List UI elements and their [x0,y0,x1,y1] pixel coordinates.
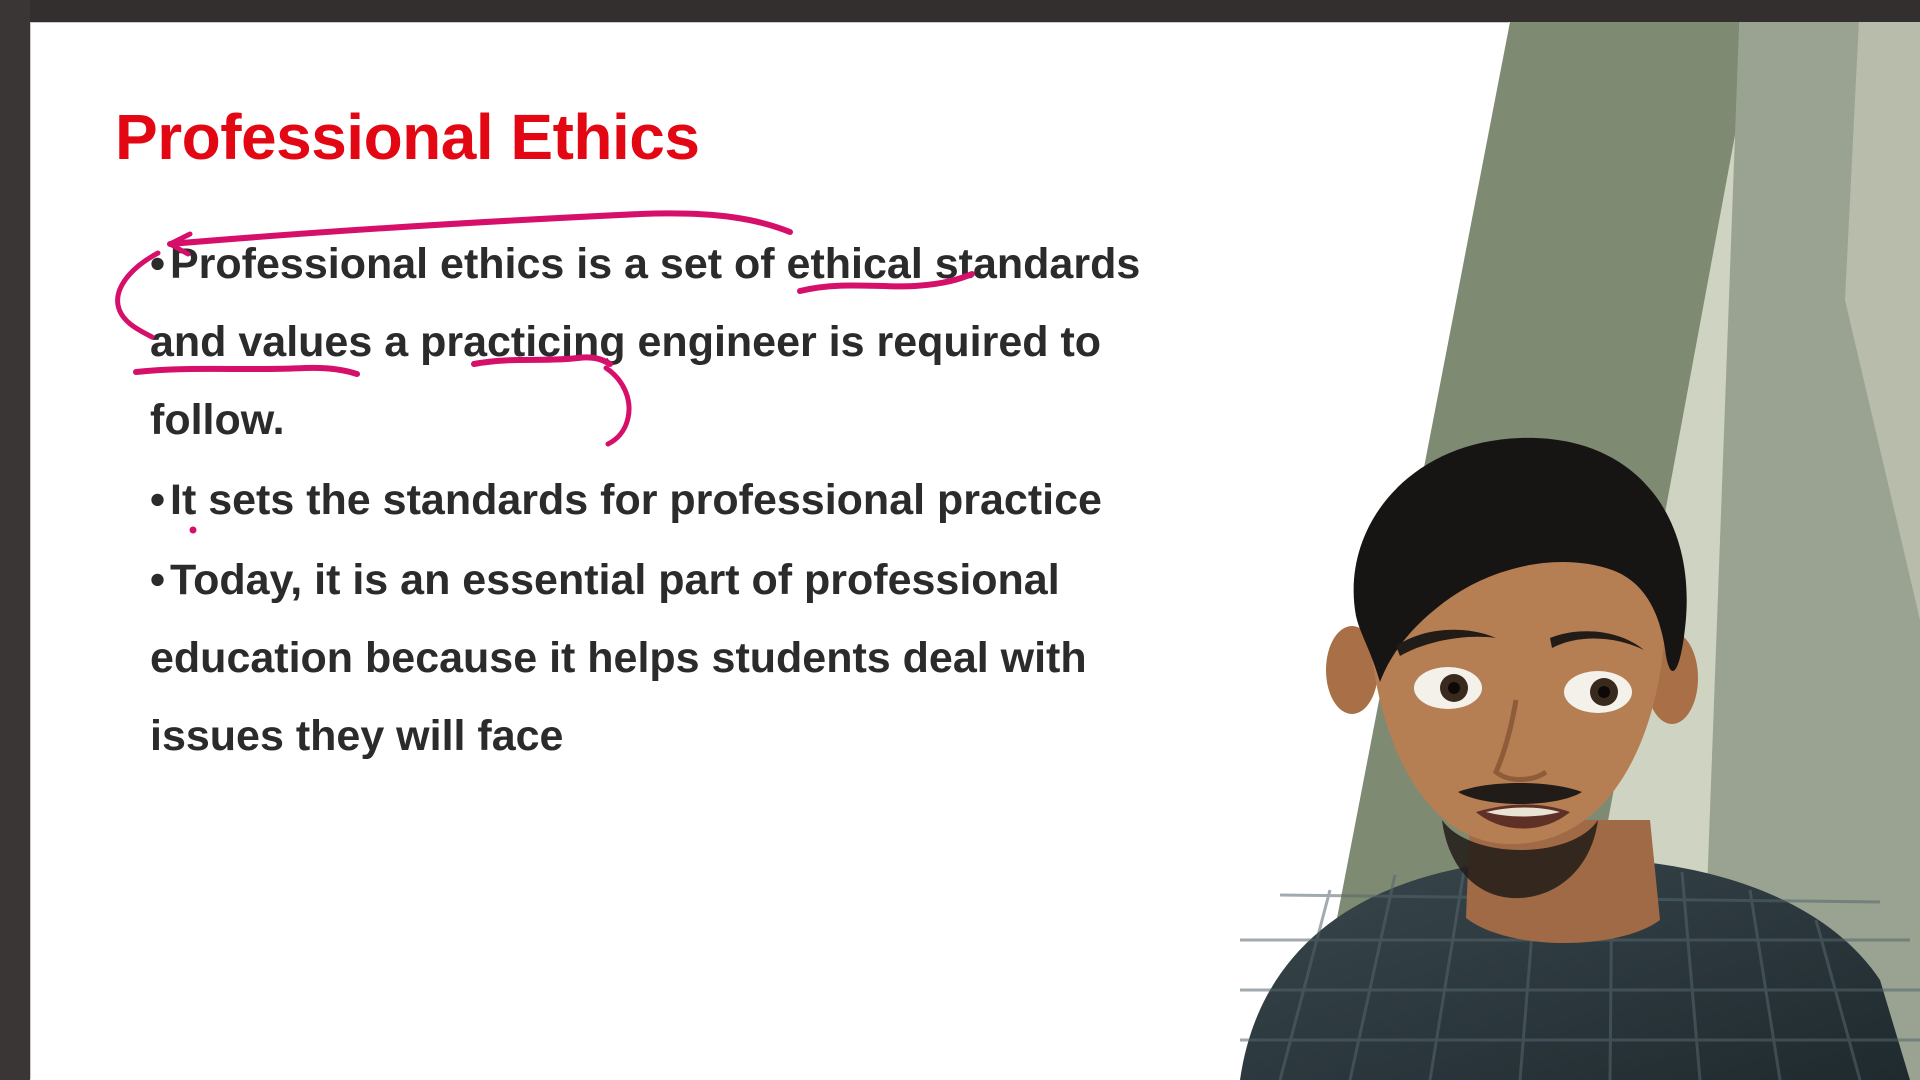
presenter-webcam-overlay [1220,420,1920,1080]
bullet-line: education because it helps students deal… [150,634,1087,682]
bullet-marker: • [150,225,170,303]
bullet-line: Professional ethics is a set of ethical [170,240,923,288]
letterbox-top-bar [0,0,1920,22]
bullet-marker: • [150,461,170,539]
presenter-figure [1220,420,1920,1080]
presenter-pupil-left [1448,682,1460,694]
video-frame: Professional Ethics •Professional ethics… [0,0,1920,1080]
bullet-item: •Professional ethics is a set of ethical… [150,225,1210,459]
bullet-line: issues they will face [150,712,563,760]
bullet-item: •Today, it is an essential part of profe… [150,541,1210,775]
bullet-line: Today, it is an essential part of profes… [170,556,1060,604]
presenter-pupil-right [1598,686,1610,698]
bullet-marker: • [150,541,170,619]
slide-body: •Professional ethics is a set of ethical… [150,225,1210,777]
letterbox-left-bar [0,0,30,1080]
bullet-line: It sets the standards for professional p… [170,476,1102,524]
bullet-item: •It sets the standards for professional … [150,461,1210,539]
page-title: Professional Ethics [115,100,699,174]
